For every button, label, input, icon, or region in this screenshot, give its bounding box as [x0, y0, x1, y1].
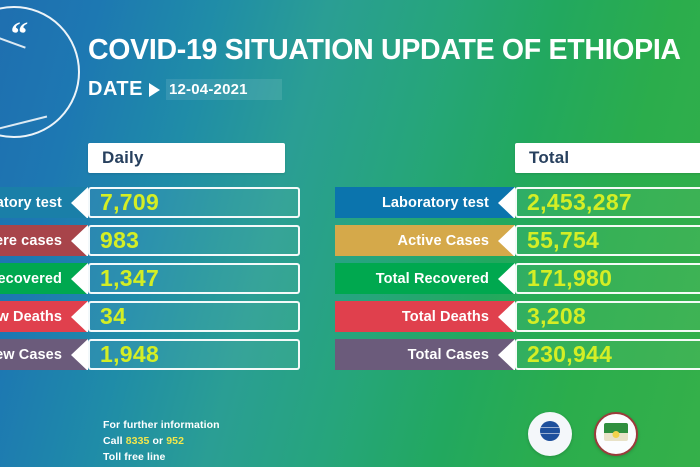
daily-rows: atory test 7,709 ere cases 983 ecovered … [0, 187, 300, 370]
daily-row-label-0: atory test [0, 187, 88, 218]
contact-line-3: Toll free line [103, 450, 220, 466]
phone-number-primary: 8335 [126, 435, 150, 447]
logo-text-line2: vice [0, 82, 34, 106]
table-row: Total Deaths 3,208 [335, 301, 700, 332]
value-text: 171,980 [527, 267, 612, 290]
table-row: Total Cases 230,944 [335, 339, 700, 370]
daily-row-value-1: 983 [88, 225, 300, 256]
chevron-notch-icon [493, 301, 515, 332]
total-row-value-2: 171,980 [515, 263, 700, 294]
date-row: DATE 12-04-2021 [88, 78, 282, 101]
total-row-label-3: Total Deaths [335, 301, 515, 332]
caret-right-icon [149, 83, 160, 97]
label-text: ew Cases [0, 347, 62, 363]
value-text: 1,347 [100, 267, 159, 290]
crest-icon [604, 423, 628, 441]
table-row: Active Cases 55,754 [335, 225, 700, 256]
value-text: 230,944 [527, 343, 612, 366]
chevron-notch-icon [66, 187, 88, 218]
chevron-notch-icon [66, 263, 88, 294]
label-text: Total Deaths [402, 309, 489, 325]
logo-text: sk vice [0, 58, 34, 106]
table-row: Total Recovered 171,980 [335, 263, 700, 294]
institution-logos [528, 412, 638, 456]
daily-row-value-3: 34 [88, 301, 300, 332]
chevron-notch-icon [66, 339, 88, 370]
contact-info: For further information Call 8335 or 952… [103, 418, 220, 465]
value-text: 1,948 [100, 343, 159, 366]
contact-line-2: Call 8335 or 952 [103, 434, 220, 450]
daily-row-label-4: ew Cases [0, 339, 88, 370]
table-row: ecovered 1,347 [0, 263, 300, 294]
value-text: 55,754 [527, 229, 599, 252]
total-row-value-0: 2,453,287 [515, 187, 700, 218]
label-text: Active Cases [398, 233, 489, 249]
date-label: DATE [88, 78, 143, 101]
ephi-logo-caption [528, 445, 572, 449]
call-prefix: Call [103, 435, 126, 447]
label-text: Total Cases [408, 347, 489, 363]
daily-row-value-2: 1,347 [88, 263, 300, 294]
ephi-logo-icon [528, 412, 572, 456]
label-text: Total Recovered [376, 271, 489, 287]
chevron-notch-icon [493, 263, 515, 294]
organization-logo: “ sk vice [0, 6, 80, 138]
daily-row-label-3: w Deaths [0, 301, 88, 332]
label-text: ere cases [0, 233, 62, 249]
chevron-notch-icon [66, 301, 88, 332]
total-panel: Total Laboratory test 2,453,287 Active C… [335, 143, 700, 377]
chevron-notch-icon [493, 225, 515, 256]
total-row-label-0: Laboratory test [335, 187, 515, 218]
chevron-notch-icon [493, 339, 515, 370]
total-row-value-4: 230,944 [515, 339, 700, 370]
table-row: atory test 7,709 [0, 187, 300, 218]
total-rows: Laboratory test 2,453,287 Active Cases 5… [335, 187, 700, 370]
label-text: Laboratory test [382, 195, 489, 211]
total-row-label-1: Active Cases [335, 225, 515, 256]
value-text: 983 [100, 229, 139, 252]
total-row-label-4: Total Cases [335, 339, 515, 370]
daily-panel-heading: Daily [88, 143, 285, 173]
phone-number-secondary: 952 [166, 435, 184, 447]
value-text: 2,453,287 [527, 191, 632, 214]
daily-row-label-1: ere cases [0, 225, 88, 256]
total-row-label-2: Total Recovered [335, 263, 515, 294]
globe-icon [540, 421, 560, 441]
label-text: ecovered [0, 271, 62, 287]
contact-line-1: For further information [103, 418, 220, 434]
logo-text-line1: sk [0, 58, 34, 82]
value-text: 7,709 [100, 191, 159, 214]
label-text: w Deaths [0, 309, 62, 325]
total-row-value-3: 3,208 [515, 301, 700, 332]
label-text: atory test [0, 195, 62, 211]
table-row: w Deaths 34 [0, 301, 300, 332]
table-row: Laboratory test 2,453,287 [335, 187, 700, 218]
chevron-notch-icon [493, 187, 515, 218]
total-row-value-1: 55,754 [515, 225, 700, 256]
ministry-of-health-logo-icon [594, 412, 638, 456]
chevron-notch-icon [66, 225, 88, 256]
total-panel-heading: Total [515, 143, 700, 173]
value-text: 3,208 [527, 305, 586, 328]
call-separator: or [149, 435, 166, 447]
daily-row-value-0: 7,709 [88, 187, 300, 218]
table-row: ew Cases 1,948 [0, 339, 300, 370]
date-value: 12-04-2021 [166, 79, 282, 100]
daily-panel: Daily atory test 7,709 ere cases 983 eco… [0, 143, 300, 377]
total-heading-label: Total [529, 148, 569, 168]
value-text: 34 [100, 305, 126, 328]
page-title: COVID-19 SITUATION UPDATE OF ETHIOPIA [88, 34, 681, 67]
daily-row-label-2: ecovered [0, 263, 88, 294]
table-row: ere cases 983 [0, 225, 300, 256]
daily-heading-label: Daily [102, 148, 144, 168]
daily-row-value-4: 1,948 [88, 339, 300, 370]
